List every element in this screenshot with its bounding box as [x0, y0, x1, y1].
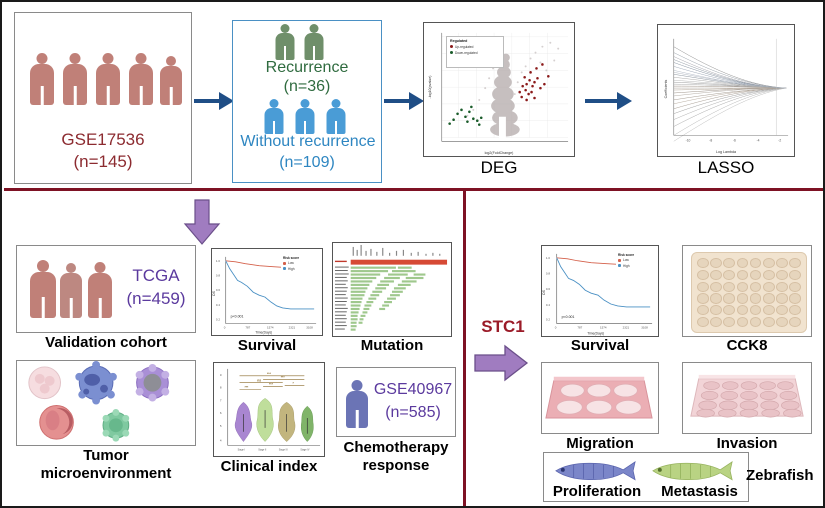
well	[789, 282, 801, 292]
svg-text:3108: 3108	[641, 326, 648, 330]
deg-legend: Regulated Up-regulated Down-regulated	[446, 36, 504, 68]
svg-text:1.0: 1.0	[216, 259, 220, 263]
cck8-well-grid	[697, 258, 801, 327]
well	[737, 317, 749, 327]
svg-text:0.6: 0.6	[546, 287, 550, 291]
svg-text:Time(Days): Time(Days)	[255, 330, 272, 334]
survival-tcga-legend-title: Risk score	[283, 256, 316, 260]
svg-text:-4: -4	[757, 138, 760, 142]
well	[750, 317, 762, 327]
cohort-name: GSE17536	[15, 130, 191, 150]
svg-text:-6: -6	[733, 138, 736, 142]
well	[737, 293, 749, 303]
well	[776, 282, 788, 292]
well	[710, 270, 722, 280]
panel-zebrafish: Proliferation Metastasis	[543, 452, 749, 502]
svg-text:-2: -2	[778, 138, 781, 142]
risk-high-label: High	[288, 267, 295, 271]
deg-ylabel: -log10(pvalue)	[428, 67, 432, 107]
cell-green-lymphocyte	[103, 409, 130, 442]
person-icon	[325, 99, 346, 134]
well	[763, 293, 775, 303]
well	[737, 282, 749, 292]
norecurrence-count: (n=109)	[233, 154, 381, 172]
svg-text:Time(Days): Time(Days)	[587, 331, 604, 335]
well	[723, 270, 735, 280]
well	[737, 305, 749, 315]
svg-text:2321: 2321	[289, 326, 296, 330]
survival-stc1-caption: Survival	[541, 338, 659, 354]
svg-text:1.0: 1.0	[546, 256, 550, 260]
risk-low-swatch	[618, 259, 621, 262]
panel-discovery-cohort: GSE17536 (n=145)	[14, 12, 192, 184]
lasso-xlabel: Log Lambda	[658, 150, 794, 154]
cohort-count: (n=145)	[15, 152, 191, 172]
tme-caption-line1: Tumor	[16, 448, 196, 464]
survival-tcga-legend-high: High	[283, 267, 316, 271]
people-group-recurrence	[270, 24, 346, 60]
plot-clinical-violin: 987 654 *** ns ***	[213, 362, 325, 457]
lasso-caption: LASSO	[657, 159, 795, 177]
risk-high-swatch	[618, 264, 621, 267]
panel-tumor-microenvironment	[16, 360, 196, 446]
person-icon	[29, 53, 55, 105]
well	[723, 258, 735, 268]
well	[763, 305, 775, 315]
well	[710, 317, 722, 327]
well	[789, 293, 801, 303]
svg-text:-10: -10	[686, 138, 691, 142]
person-icon	[159, 56, 183, 105]
deg-legend-item-up: Up-regulated	[450, 45, 500, 49]
well	[789, 270, 801, 280]
chemo-dataset-name: GSE40967	[371, 381, 455, 399]
person-icon	[59, 263, 83, 318]
mutation-caption: Mutation	[332, 338, 452, 354]
svg-text:Stage IV: Stage IV	[300, 448, 309, 451]
people-group-tcga	[29, 258, 119, 320]
recurrence-count: (n=36)	[233, 78, 381, 96]
tcga-count: (n=459)	[117, 289, 195, 309]
people-group-norecurrence	[261, 99, 356, 134]
clinical-index-caption: Clinical index	[208, 459, 330, 475]
well	[763, 282, 775, 292]
well	[776, 258, 788, 268]
arrow-deg-to-lasso	[585, 92, 633, 110]
invasion-caption: Invasion	[682, 436, 812, 452]
person-icon	[29, 260, 57, 318]
svg-text:ns: ns	[257, 379, 261, 383]
person-icon	[128, 53, 154, 105]
well	[697, 305, 709, 315]
survival-stc1-legend-high: High	[618, 264, 652, 268]
well	[697, 282, 709, 292]
person-icon	[294, 99, 315, 134]
validation-cohort-caption: Validation cohort	[16, 335, 196, 351]
well	[737, 258, 749, 268]
deg-xlabel: log2(FoldChange)	[424, 151, 574, 155]
panel-cck8	[682, 245, 812, 337]
cell-red-neutrophil	[40, 405, 74, 439]
panel-migration	[541, 362, 659, 434]
panel-chemotherapy: GSE40967 (n=585)	[336, 367, 456, 437]
person-icon	[95, 53, 121, 105]
person-icon	[62, 53, 88, 105]
svg-text:Stage I: Stage I	[238, 448, 246, 451]
well	[723, 305, 735, 315]
arrow-cohort-to-groups	[194, 92, 234, 110]
mutation-svg	[333, 243, 451, 336]
chemo-caption-line1: Chemotherapy	[336, 440, 456, 456]
svg-text:2321: 2321	[623, 326, 630, 330]
survival-stc1-legend-low: Low	[618, 258, 652, 262]
well	[723, 293, 735, 303]
svg-text:Stage II: Stage II	[258, 448, 266, 451]
tcga-name: TCGA	[117, 266, 195, 286]
well	[763, 317, 775, 327]
up-regulated-label: Up-regulated	[455, 45, 473, 49]
survival-tcga-legend-low: Low	[283, 261, 316, 265]
well	[697, 270, 709, 280]
svg-text:p<0.001: p<0.001	[231, 315, 244, 319]
tme-caption-line2: microenvironment	[2, 466, 210, 482]
people-group-cohort	[25, 51, 183, 107]
person-icon	[345, 380, 369, 428]
lasso-ylabel: Coefficients	[664, 69, 668, 109]
zebrafish-caption: Zebrafish	[746, 468, 824, 484]
well	[763, 270, 775, 280]
panel-recurrence-groups: Recurrence (n=36) Without recurrence (n=…	[232, 20, 382, 183]
svg-text:1574: 1574	[600, 326, 607, 330]
risk-high-label: High	[623, 264, 630, 268]
person-icon	[303, 24, 324, 60]
well	[710, 293, 722, 303]
risk-low-label: Low	[288, 261, 294, 265]
plot-lasso: -10-8 -6-4-2 Log Lambda Coefficients	[657, 24, 795, 157]
arrow-down-purple	[182, 198, 222, 246]
deg-legend-title: Regulated	[450, 39, 500, 43]
well	[697, 317, 709, 327]
svg-text:OS: OS	[542, 289, 546, 295]
zebrafish-blue-icon	[556, 462, 635, 480]
cell-blue-macrophage	[75, 361, 117, 405]
well	[776, 293, 788, 303]
risk-high-swatch	[283, 267, 286, 270]
lasso-svg: -10-8 -6-4-2	[658, 25, 794, 156]
figure-root: GSE17536 (n=145) Recurrence (n=36)	[0, 0, 825, 508]
zebrafish-proliferation-label: Proliferation	[542, 483, 652, 500]
well	[710, 305, 722, 315]
well	[723, 282, 735, 292]
well	[697, 258, 709, 268]
well	[710, 258, 722, 268]
invasion-plate-svg	[683, 363, 811, 434]
svg-text:-8: -8	[709, 138, 712, 142]
horizontal-divider	[4, 188, 825, 191]
svg-text:0.8: 0.8	[546, 272, 550, 276]
zebrafish-green-icon	[653, 462, 732, 480]
survival-tcga-legend: Risk score Low High	[281, 254, 318, 276]
vertical-divider	[463, 191, 466, 507]
down-regulated-label: Down-regulated	[455, 51, 478, 55]
risk-low-swatch	[283, 262, 286, 265]
svg-text:3108: 3108	[306, 326, 313, 330]
migration-plate-svg	[542, 363, 658, 434]
panel-tcga-cohort: TCGA (n=459)	[16, 245, 196, 333]
well	[750, 305, 762, 315]
chemo-caption-line2: response	[336, 458, 456, 474]
cck8-caption: CCK8	[682, 338, 812, 354]
svg-text:0.2: 0.2	[216, 318, 220, 322]
stc1-gene-label: STC1	[475, 317, 531, 337]
arrow-right-purple-stc1	[473, 343, 529, 383]
svg-text:0.6: 0.6	[216, 288, 220, 292]
cck8-plate	[691, 252, 807, 333]
well	[789, 317, 801, 327]
panel-invasion	[682, 362, 812, 434]
survival-stc1-legend: Risk score Low High	[616, 251, 654, 273]
well	[789, 305, 801, 315]
well	[750, 270, 762, 280]
cell-purple-nk	[136, 364, 170, 402]
svg-text:0.2: 0.2	[546, 318, 550, 322]
immune-cells-svg	[17, 361, 195, 446]
down-regulated-dot	[450, 51, 453, 54]
svg-text:0.8: 0.8	[216, 273, 220, 277]
well	[697, 293, 709, 303]
svg-text:1574: 1574	[267, 326, 274, 330]
deg-caption: DEG	[423, 159, 575, 177]
person-icon	[87, 262, 113, 318]
migration-caption: Migration	[541, 436, 659, 452]
up-regulated-dot	[450, 45, 453, 48]
plot-mutation	[332, 242, 452, 337]
deg-legend-item-down: Down-regulated	[450, 51, 500, 55]
svg-text:p<0.001: p<0.001	[562, 315, 575, 319]
svg-text:787: 787	[245, 326, 250, 330]
cell-pale-pink	[29, 367, 61, 399]
svg-text:0.4: 0.4	[546, 303, 550, 307]
chemo-dataset-count: (n=585)	[371, 404, 455, 422]
well	[789, 258, 801, 268]
well	[776, 270, 788, 280]
well	[710, 282, 722, 292]
well	[776, 305, 788, 315]
well	[723, 317, 735, 327]
well	[763, 258, 775, 268]
svg-text:Stage III: Stage III	[279, 448, 288, 451]
well	[737, 270, 749, 280]
plot-survival-stc1: 1.00.80.6 0.40.2 07871574 23213108 p<0.0…	[541, 245, 659, 337]
recurrence-label: Recurrence	[233, 59, 381, 77]
well	[750, 282, 762, 292]
norecurrence-label: Without recurrence	[227, 133, 389, 151]
well	[750, 293, 762, 303]
risk-low-label: Low	[623, 258, 629, 262]
arrow-groups-to-deg	[384, 92, 424, 110]
svg-text:OS: OS	[212, 290, 216, 296]
svg-text:787: 787	[577, 326, 582, 330]
survival-tcga-caption: Survival	[211, 338, 323, 354]
person-icon	[263, 99, 284, 134]
survival-stc1-legend-title: Risk score	[618, 253, 652, 257]
person-icon	[274, 24, 295, 60]
zebrafish-metastasis-label: Metastasis	[647, 483, 752, 500]
well	[776, 317, 788, 327]
plot-deg-volcano: Regulated Up-regulated Down-regulated lo…	[423, 22, 575, 157]
violin-svg: 987 654 *** ns ***	[214, 363, 324, 456]
plot-survival-tcga: 1.00.80.6 0.40.2 07871574 23213108 p<0.0…	[211, 248, 323, 336]
well	[750, 258, 762, 268]
svg-text:0.4: 0.4	[216, 303, 220, 307]
